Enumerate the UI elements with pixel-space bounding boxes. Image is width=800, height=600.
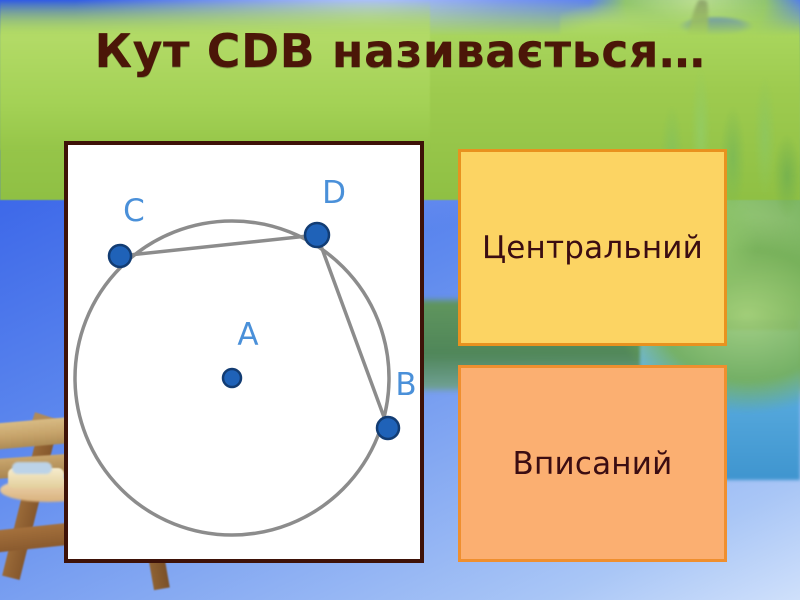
quiz-slide: Кут CDB називається… ACDB Центральний Вп…: [0, 0, 800, 600]
point-b: [377, 417, 399, 439]
geometry-figure-panel: ACDB: [64, 141, 424, 563]
circle-diagram: ACDB: [68, 145, 420, 559]
point-label-b: B: [395, 367, 416, 403]
question-title: Кут CDB називається…: [0, 24, 800, 78]
answer-option-inscribed-label: Вписаний: [513, 446, 673, 482]
chord-db: [317, 235, 388, 428]
point-label-d: D: [322, 175, 346, 211]
point-a: [223, 369, 241, 387]
bread-topping: [12, 462, 52, 474]
point-c: [109, 245, 131, 267]
point-label-a: A: [237, 317, 258, 353]
answer-option-inscribed[interactable]: Вписаний: [458, 365, 727, 562]
point-label-c: C: [123, 193, 145, 229]
answer-option-central[interactable]: Центральний: [458, 149, 727, 346]
answer-option-central-label: Центральний: [482, 230, 703, 266]
point-d: [305, 223, 329, 247]
